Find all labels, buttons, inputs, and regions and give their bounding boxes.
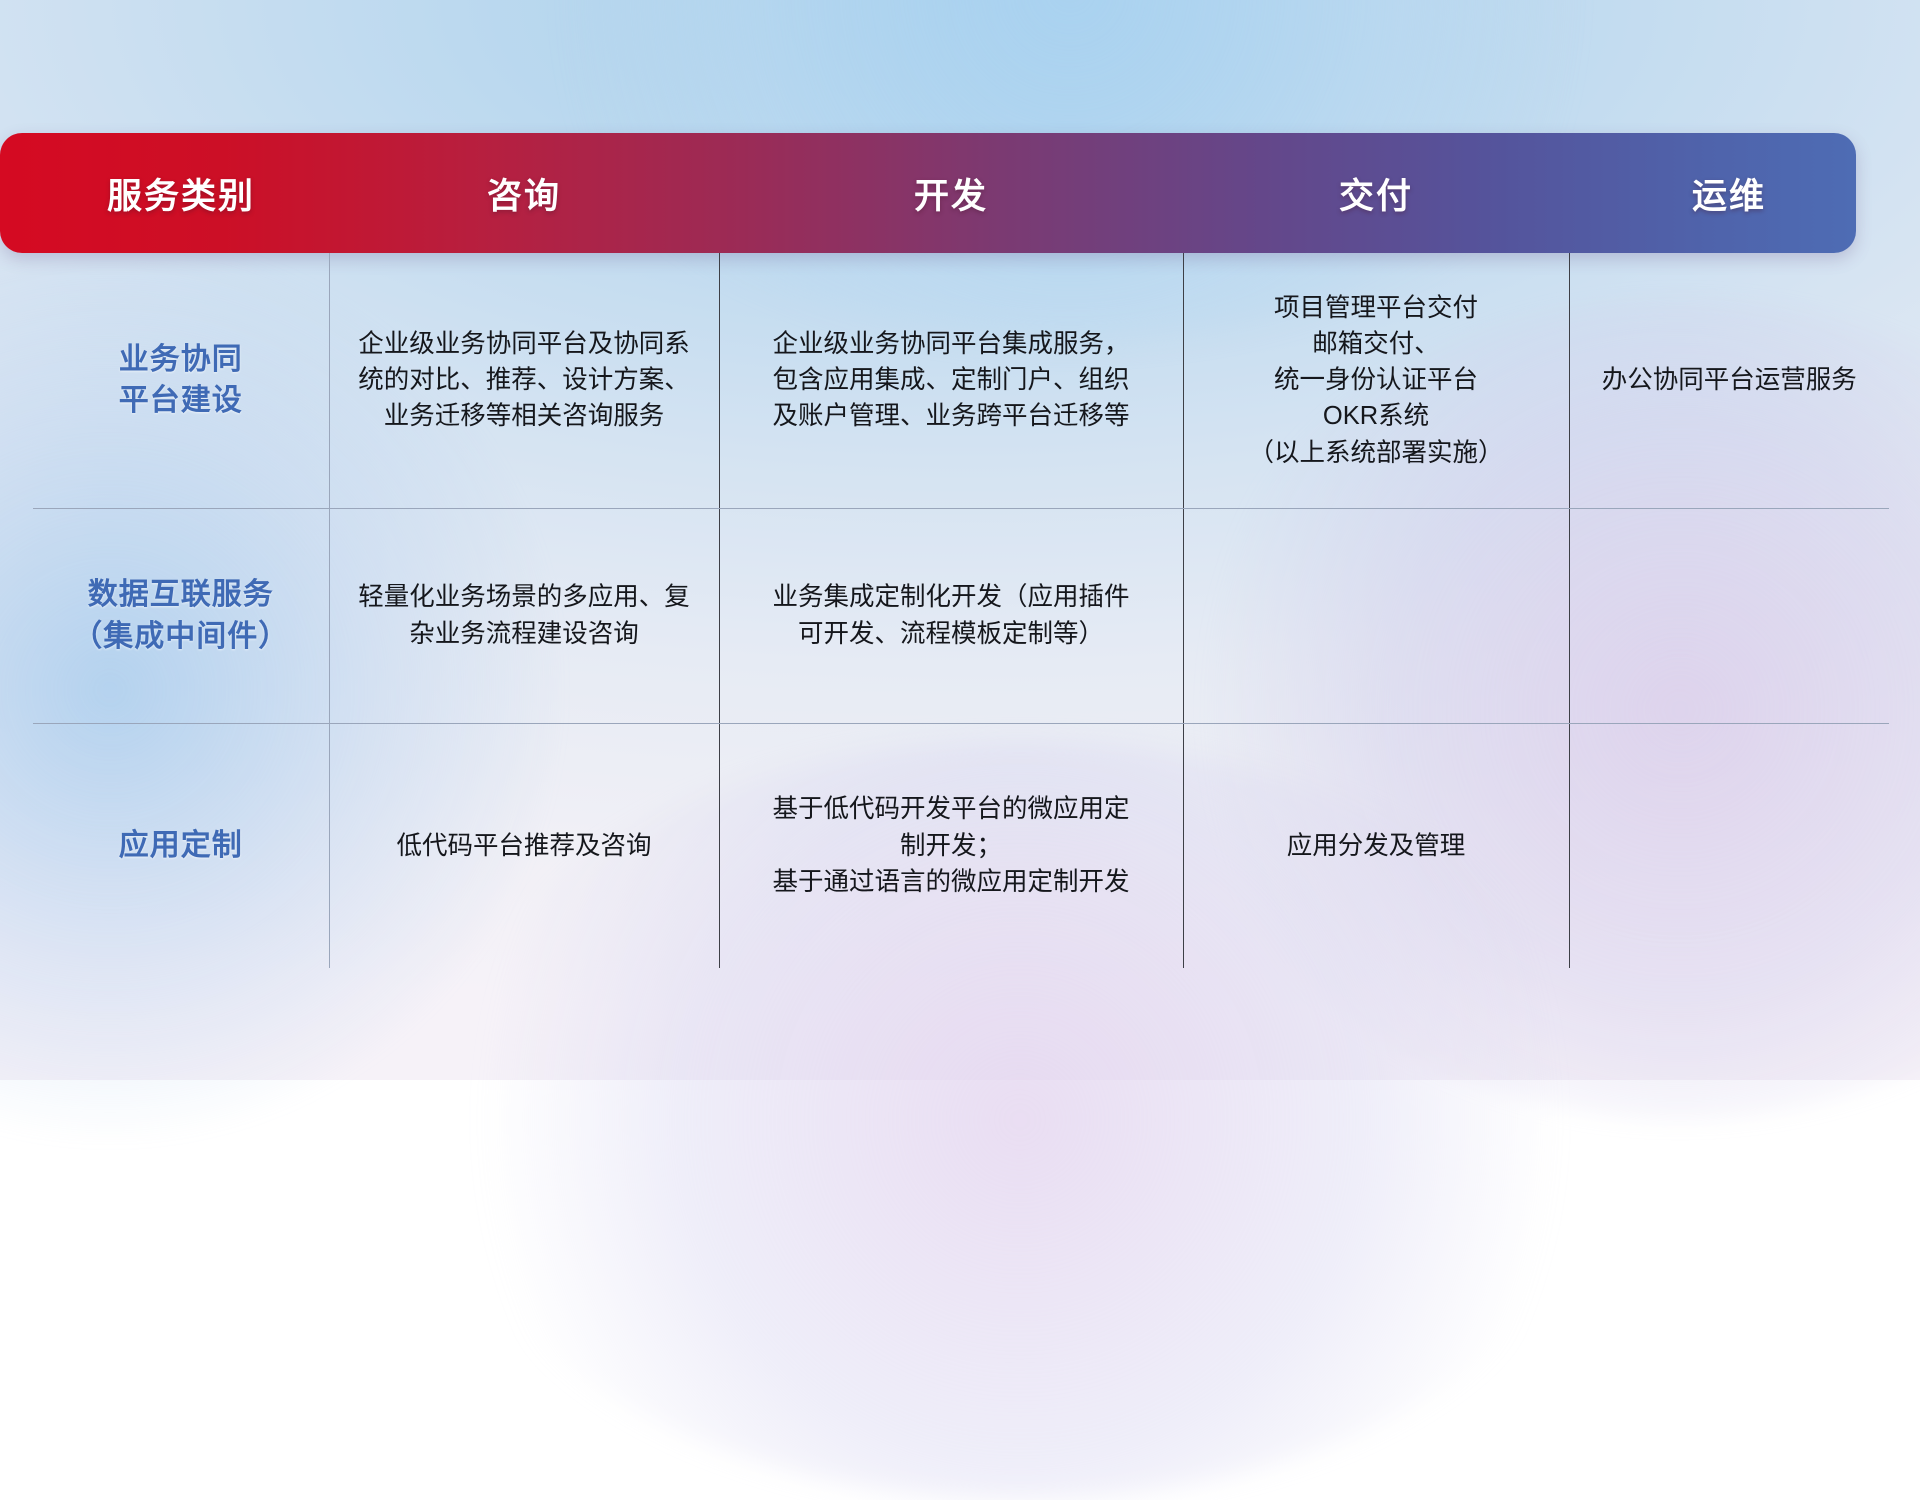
cell-delivery: 应用分发及管理 bbox=[1183, 723, 1569, 968]
column-header-consulting: 咨询 bbox=[329, 133, 719, 253]
column-header-development: 开发 bbox=[719, 133, 1183, 253]
table-row: 业务协同 平台建设 企业级业务协同平台及协同系 统的对比、推荐、设计方案、 业务… bbox=[33, 253, 1889, 508]
column-header-category: 服务类别 bbox=[33, 133, 329, 253]
cell-development: 业务集成定制化开发（应用插件 可开发、流程模板定制等） bbox=[719, 508, 1183, 723]
row-category-label: 数据互联服务 （集成中间件） bbox=[33, 508, 329, 723]
table-row: 数据互联服务 （集成中间件） 轻量化业务场景的多应用、复 杂业务流程建设咨询 业… bbox=[33, 508, 1889, 723]
column-header-development-label: 开发 bbox=[914, 168, 988, 219]
row-category-label: 应用定制 bbox=[33, 723, 329, 968]
cell-delivery: 项目管理平台交付 邮箱交付、 统一身份认证平台 OKR系统 （以上系统部署实施） bbox=[1183, 253, 1569, 508]
table-header: 服务类别 咨询 开发 交付 运维 bbox=[33, 133, 1889, 253]
cell-delivery bbox=[1183, 508, 1569, 723]
column-header-consulting-label: 咨询 bbox=[487, 168, 561, 219]
column-header-delivery-label: 交付 bbox=[1339, 168, 1413, 219]
service-matrix-table: 服务类别 咨询 开发 交付 运维 业务协同 平台建设 企业级业务协同平台及协同系… bbox=[33, 133, 1889, 968]
cell-operations bbox=[1569, 723, 1889, 968]
service-matrix-container: 服务类别 咨询 开发 交付 运维 业务协同 平台建设 企业级业务协同平台及协同系… bbox=[33, 133, 1889, 968]
column-header-category-label: 服务类别 bbox=[107, 168, 255, 219]
row-category-label: 业务协同 平台建设 bbox=[33, 253, 329, 508]
cell-development: 企业级业务协同平台集成服务， 包含应用集成、定制门户、组织 及账户管理、业务跨平… bbox=[719, 253, 1183, 508]
cell-operations bbox=[1569, 508, 1889, 723]
cell-consulting: 低代码平台推荐及咨询 bbox=[329, 723, 719, 968]
column-header-operations-label: 运维 bbox=[1692, 168, 1766, 219]
table-row: 应用定制 低代码平台推荐及咨询 基于低代码开发平台的微应用定 制开发； 基于通过… bbox=[33, 723, 1889, 968]
header-row: 服务类别 咨询 开发 交付 运维 bbox=[33, 133, 1889, 253]
cell-consulting: 轻量化业务场景的多应用、复 杂业务流程建设咨询 bbox=[329, 508, 719, 723]
column-header-operations: 运维 bbox=[1569, 133, 1889, 253]
table-body: 业务协同 平台建设 企业级业务协同平台及协同系 统的对比、推荐、设计方案、 业务… bbox=[33, 253, 1889, 968]
column-header-delivery: 交付 bbox=[1183, 133, 1569, 253]
cell-development: 基于低代码开发平台的微应用定 制开发； 基于通过语言的微应用定制开发 bbox=[719, 723, 1183, 968]
cell-consulting: 企业级业务协同平台及协同系 统的对比、推荐、设计方案、 业务迁移等相关咨询服务 bbox=[329, 253, 719, 508]
cell-operations: 办公协同平台运营服务 bbox=[1569, 253, 1889, 508]
